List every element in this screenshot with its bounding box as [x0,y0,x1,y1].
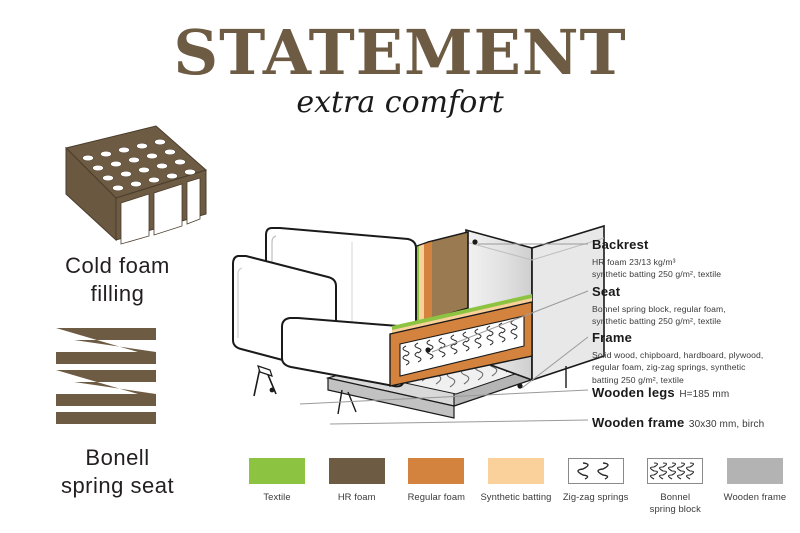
bonell-caption-line2: spring seat [5,472,230,500]
legend-label-wooden-frame: Wooden frame [718,491,792,503]
callout-frame-body-line2: regular foam, zig-zag springs, synthetic [592,361,800,373]
legend-swatch-synthetic-batting [488,458,544,484]
legend-label-bonnel-line1: Bonnel [638,491,712,503]
callout-seat-body-line1: Bonnel spring block, regular foam, [592,303,800,315]
cold-foam-caption: Cold foam filling [5,252,230,307]
callout-wooden-legs-title: Wooden legs [592,385,675,400]
legend-item-hr-foam: HR foam [320,458,394,503]
anchor-dot-legs [270,388,275,393]
callout-wooden-legs: Wooden legs H=185 mm [592,384,800,402]
legend-item-zigzag-springs: Zig-zag springs [559,458,633,503]
legend-item-synthetic-batting: Synthetic batting [479,458,553,503]
callout-backrest-title: Backrest [592,237,649,252]
infographic-page: STATEMENT extra comfort [0,0,800,533]
legend-label-bonnel-line2: spring block [638,503,712,515]
legend-label-bonnel-spring-block: Bonnel spring block [638,491,712,515]
callout-seat: Seat Bonnel spring block, regular foam, … [592,283,800,328]
legend-item-wooden-frame: Wooden frame [718,458,792,503]
callout-frame-body-line1: Solid wood, chipboard, hardboard, plywoo… [592,349,800,361]
cold-foam-block-illustration [28,118,208,258]
bonell-caption-line1: Bonell [5,444,230,472]
legend-label-textile: Textile [240,491,314,503]
cold-foam-caption-line2: filling [5,280,230,308]
legend-label-zigzag-springs: Zig-zag springs [559,491,633,503]
callout-backrest: Backrest HR foam 23/13 kg/m³ synthetic b… [592,236,800,281]
sofa-cutaway-illustration [232,190,632,430]
legend-swatch-regular-foam [408,458,464,484]
legend-item-bonnel-spring-block: Bonnel spring block [638,458,712,515]
anchor-dot-frame [517,383,522,388]
cold-foam-caption-line1: Cold foam [5,252,230,280]
callout-wooden-frame-title: Wooden frame [592,415,684,430]
callout-backrest-body-line1: HR foam 23/13 kg/m³ [592,256,800,268]
page-title: STATEMENT [0,22,800,84]
anchor-dot-seat [425,347,430,352]
legend-swatch-hr-foam [329,458,385,484]
callout-backrest-body-line2: synthetic batting 250 g/m², textile [592,268,800,280]
page-subtitle: extra comfort [0,86,800,119]
callout-frame-body: Solid wood, chipboard, hardboard, plywoo… [592,349,800,386]
legend-label-regular-foam: Regular foam [399,491,473,503]
callout-wooden-legs-value: H=185 mm [679,389,729,400]
bonell-spring-caption: Bonell spring seat [5,444,230,499]
legend-swatch-wooden-frame [727,458,783,484]
legend-swatch-textile [249,458,305,484]
callout-backrest-body: HR foam 23/13 kg/m³ synthetic batting 25… [592,256,800,281]
anchor-dot-backrest [472,239,477,244]
zigzag-spring-icon [568,458,624,484]
legend-label-hr-foam: HR foam [320,491,394,503]
legend-item-textile: Textile [240,458,314,503]
bonnel-spring-icon [647,458,703,484]
bonell-spring-illustration [40,322,230,437]
callout-frame-title: Frame [592,330,632,345]
legend: Textile HR foam Regular foam Synthetic b… [240,458,792,515]
callout-wooden-frame-value: 30x30 mm, birch [689,419,764,430]
legend-item-regular-foam: Regular foam [399,458,473,503]
callout-seat-body-line2: synthetic batting 250 g/m², textile [592,315,800,327]
callout-wooden-frame: Wooden frame 30x30 mm, birch [592,414,800,432]
callout-seat-body: Bonnel spring block, regular foam, synth… [592,303,800,328]
callout-frame: Frame Solid wood, chipboard, hardboard, … [592,329,800,386]
legend-label-synthetic-batting: Synthetic batting [479,491,553,503]
callout-seat-title: Seat [592,284,620,299]
